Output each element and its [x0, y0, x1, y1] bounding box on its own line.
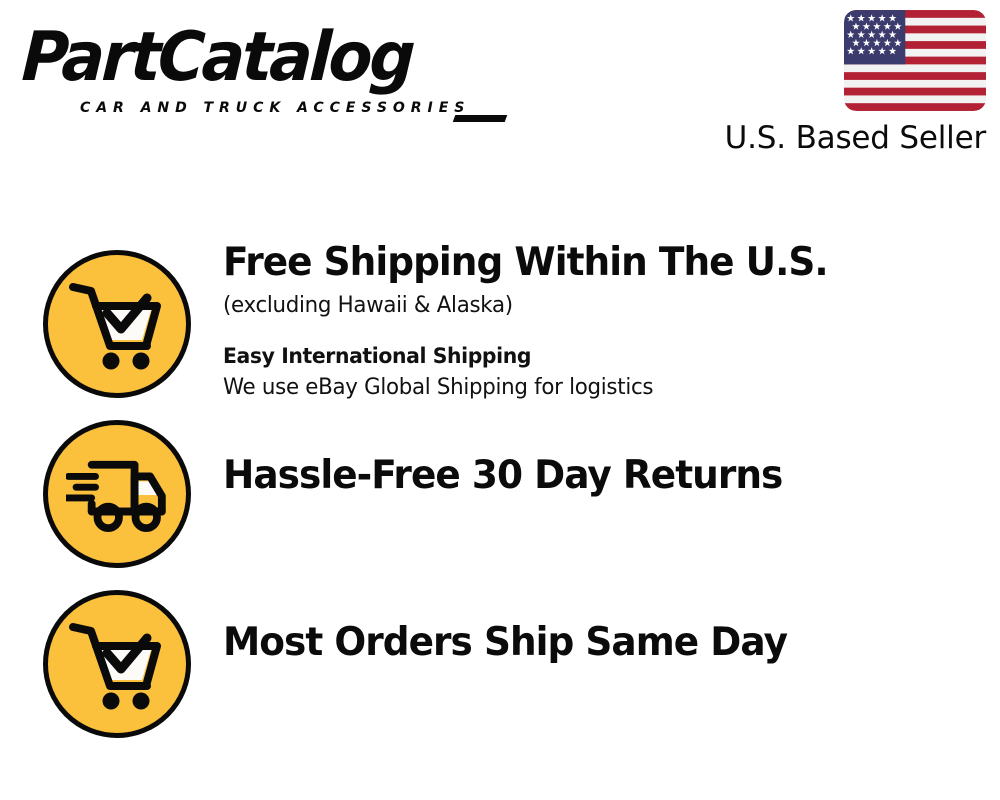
feature-icon-badge: [43, 420, 191, 568]
feature-text: Free Shipping Within The U.S. (excluding…: [223, 240, 980, 403]
feature-icon-badge: [43, 250, 191, 398]
feature-subnote: (excluding Hawaii & Alaska): [223, 290, 957, 321]
page-header: PartCatalog CAR AND TRUCK ACCESSORIES: [0, 0, 1000, 175]
feature-list: Free Shipping Within The U.S. (excluding…: [0, 235, 1000, 745]
seller-label: U.S. Based Seller: [701, 120, 986, 156]
feature-row: Most Orders Ship Same Day: [0, 575, 1000, 745]
brand-tagline-rule: [453, 115, 508, 122]
feature-row: Hassle-Free 30 Day Returns: [0, 405, 1000, 575]
feature-text: Most Orders Ship Same Day: [223, 620, 980, 666]
shopping-cart-check-icon: [67, 278, 167, 370]
brand-tagline: CAR AND TRUCK ACCESSORIES: [80, 100, 470, 116]
feature-row: Free Shipping Within The U.S. (excluding…: [0, 235, 1000, 405]
feature-title: Most Orders Ship Same Day: [223, 620, 950, 666]
feature-icon-badge: [43, 590, 191, 738]
us-flag-icon: [844, 10, 986, 111]
feature-title: Free Shipping Within The U.S.: [223, 240, 950, 286]
seller-badge: U.S. Based Seller: [701, 10, 986, 156]
delivery-truck-icon: [66, 455, 168, 533]
feature-subheading: Easy International Shipping: [223, 341, 957, 372]
feature-title: Hassle-Free 30 Day Returns: [223, 453, 950, 499]
feature-subdetail: We use eBay Global Shipping for logistic…: [223, 372, 957, 403]
brand-wordmark: PartCatalog: [20, 20, 466, 96]
brand-logo[interactable]: PartCatalog CAR AND TRUCK ACCESSORIES: [24, 20, 494, 115]
shopping-cart-check-icon: [67, 618, 167, 710]
feature-text: Hassle-Free 30 Day Returns: [223, 453, 980, 499]
